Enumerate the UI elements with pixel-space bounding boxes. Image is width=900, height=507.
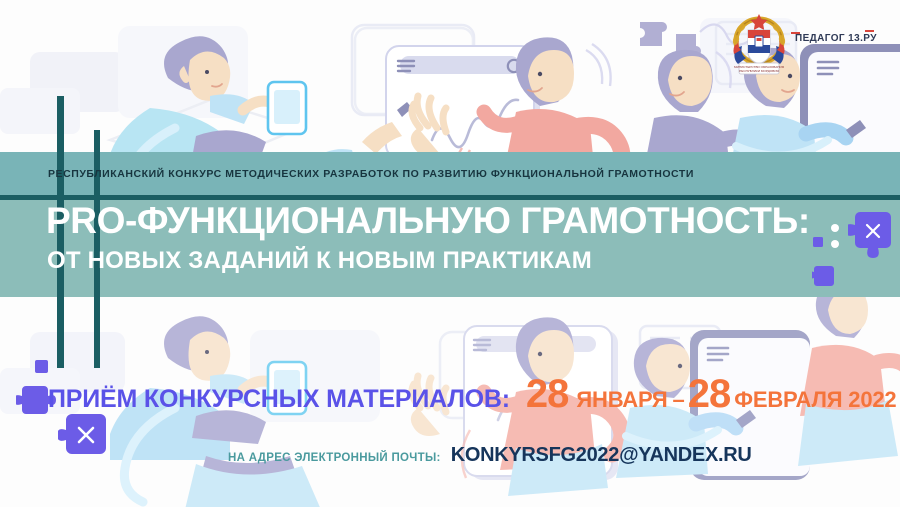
deadline-row: ПРИЁМ КОНКУРСНЫХ МАТЕРИАЛОВ:28ЯНВАРЯ–28Ф… bbox=[48, 372, 898, 414]
decor-dot-a bbox=[831, 224, 839, 232]
decor-dot-b bbox=[831, 240, 839, 248]
start-month: ЯНВАРЯ bbox=[576, 387, 667, 413]
email-row: НА АДРЕС ЭЛЕКТРОННЫЙ ПОЧТЫ:KONKYRSFG2022… bbox=[228, 444, 752, 467]
end-month-year: ФЕВРАЛЯ 2022 ГОДА bbox=[734, 387, 900, 413]
emblem-caption-line2: РЕСПУБЛИКИ МОРДОВИЯ bbox=[739, 69, 779, 73]
page-title: PRO-ФУНКЦИОНАЛЬНУЮ ГРАМОТНОСТЬ: bbox=[46, 202, 810, 239]
emblem-logo: МИНИСТЕРСТВО ОБРАЗОВАНИЯ РЕСПУБЛИКИ МОРД… bbox=[727, 12, 791, 76]
poster-canvas: РЕСПУБЛИКАНСКИЙ КОНКУРС МЕТОДИЧЕСКИХ РАЗ… bbox=[0, 0, 900, 507]
page-subtitle: ОТ НОВЫХ ЗАДАНИЙ К НОВЫМ ПРАКТИКАМ bbox=[47, 249, 592, 273]
puzzle-piece-x-bottom-left bbox=[58, 408, 110, 471]
email-address[interactable]: KONKYRSFG2022@YANDEX.RU bbox=[451, 444, 752, 467]
mordovia-education-emblem-icon: МИНИСТЕРСТВО ОБРАЗОВАНИЯ РЕСПУБЛИКИ МОРД… bbox=[727, 12, 791, 76]
brand-name: ПЕДАГОГ 13.РУ bbox=[795, 33, 877, 44]
deadline-label: ПРИЁМ КОНКУРСНЫХ МАТЕРИАЛОВ: bbox=[48, 385, 510, 414]
start-day: 28 bbox=[526, 372, 569, 417]
brand-tick-right bbox=[865, 30, 874, 32]
puzzle-piece-x-top-right bbox=[848, 208, 894, 271]
puzzle-square-small bbox=[813, 234, 823, 252]
puzzle-square-left bbox=[35, 360, 48, 378]
date-separator: – bbox=[673, 387, 685, 413]
end-day: 28 bbox=[688, 372, 731, 417]
puzzle-piece-small-bottom-right bbox=[812, 262, 838, 297]
banner-kicker: РЕСПУБЛИКАНСКИЙ КОНКУРС МЕТОДИЧЕСКИХ РАЗ… bbox=[48, 168, 694, 180]
email-label: НА АДРЕС ЭЛЕКТРОННЫЙ ПОЧТЫ: bbox=[228, 452, 441, 464]
